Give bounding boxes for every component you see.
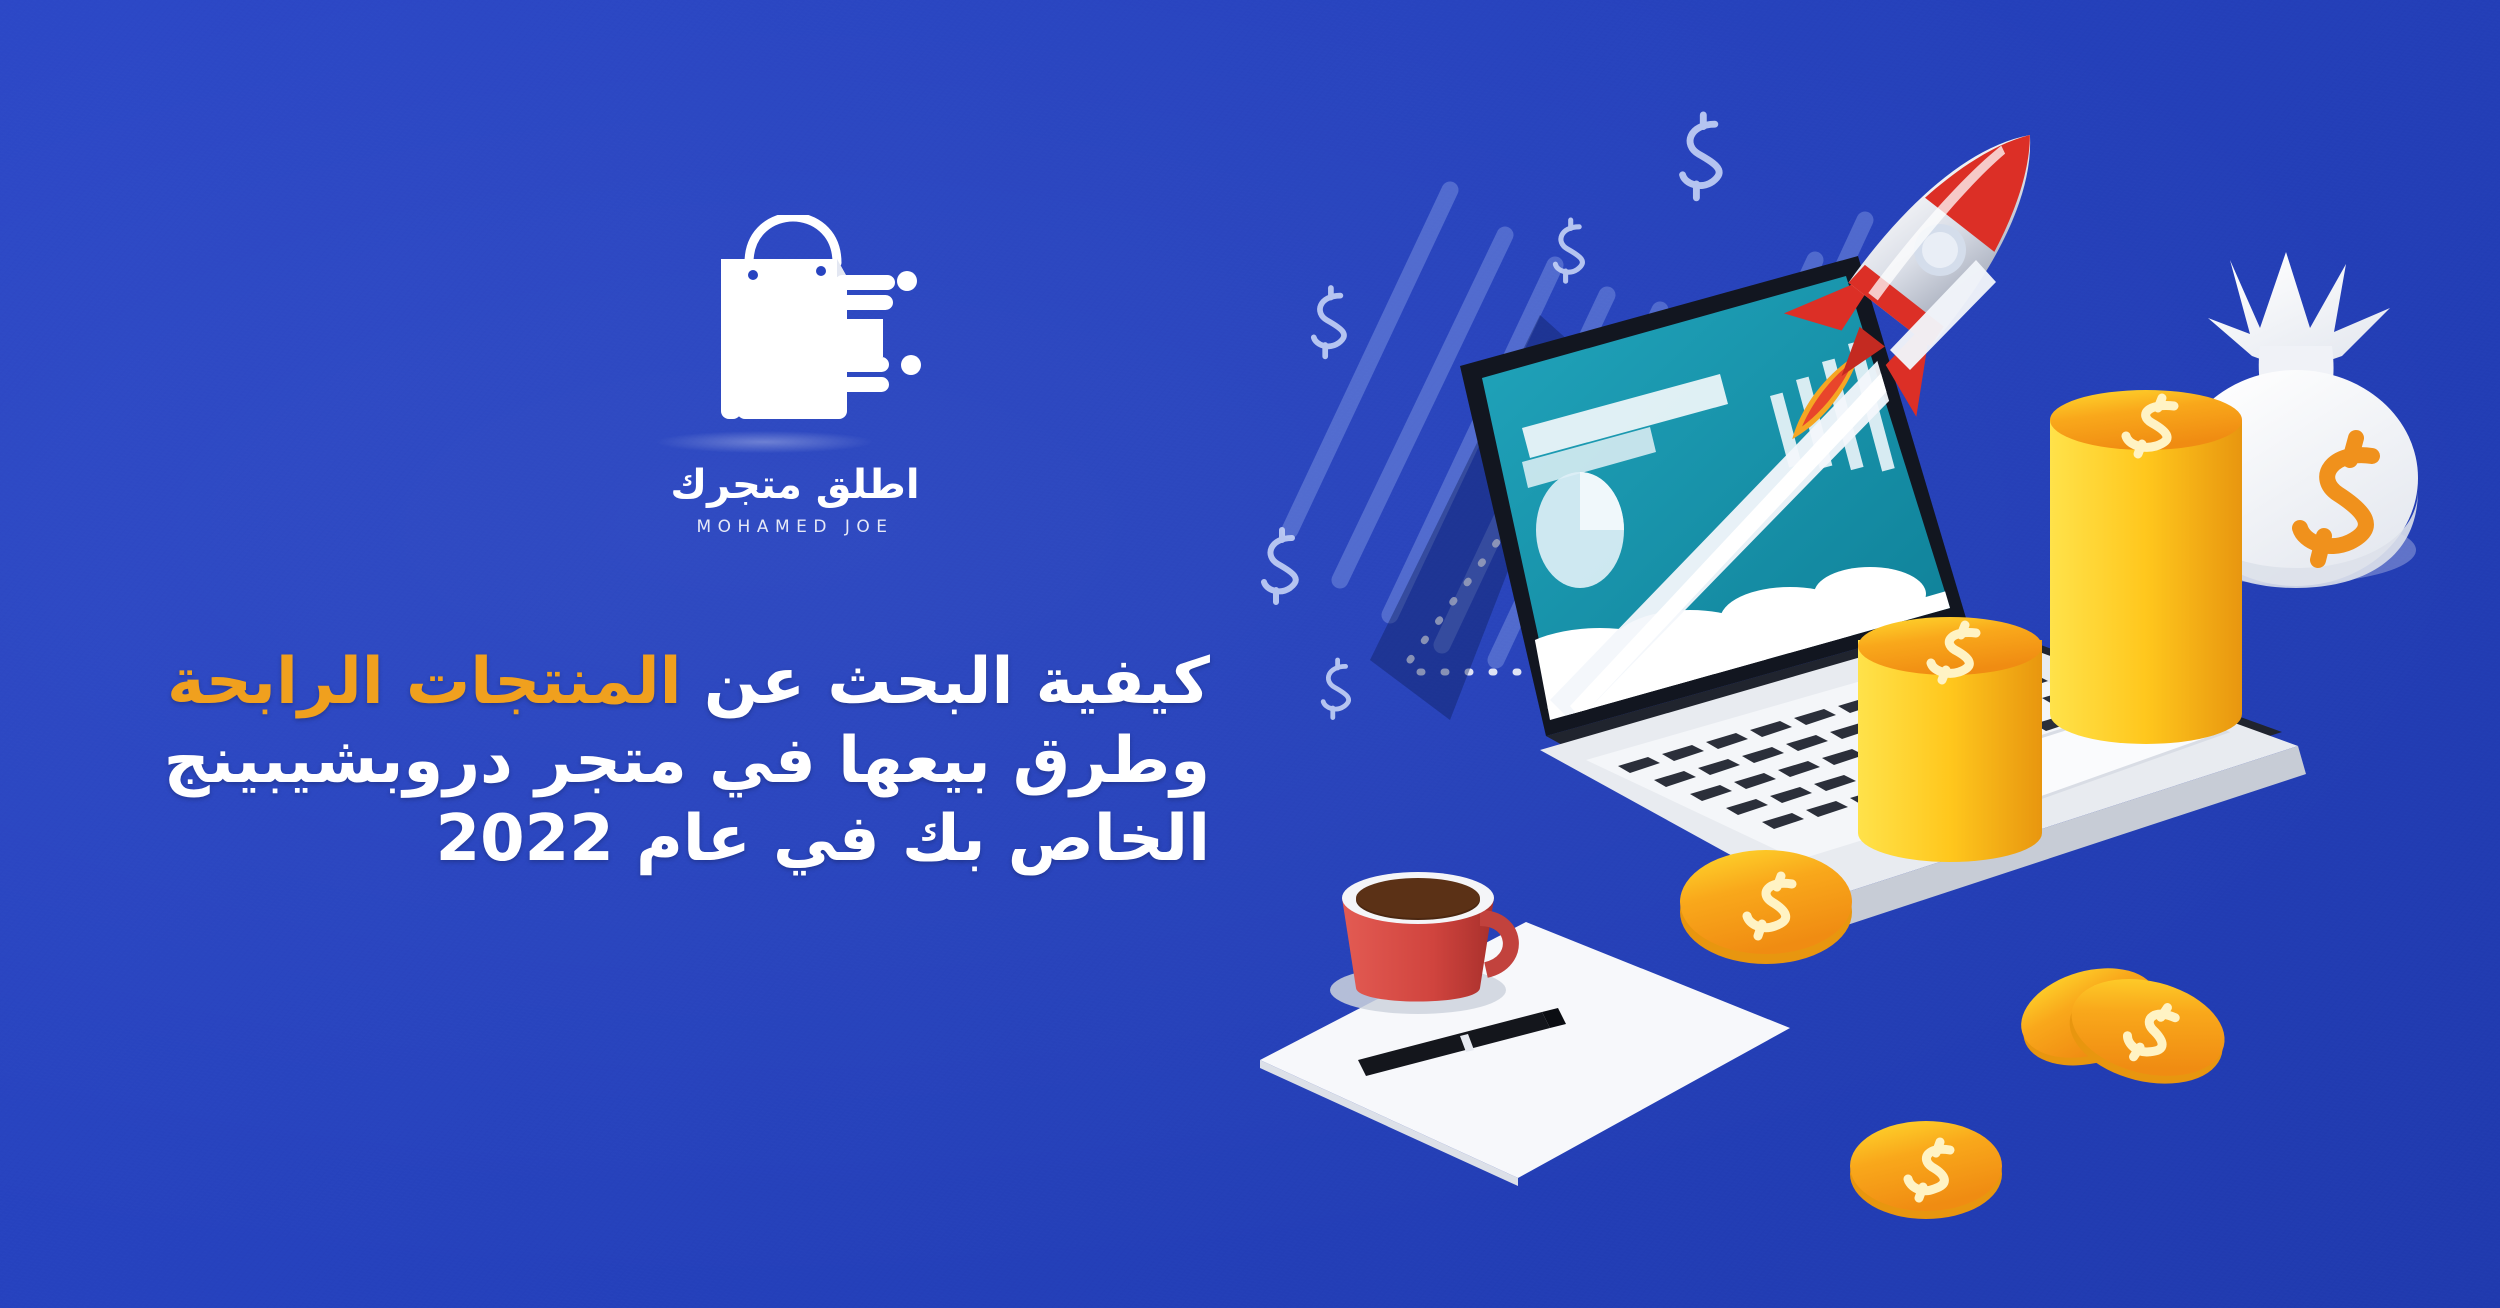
- banner-canvas: اطلق متجرك MOHAMED JOE كيفية البحث عن ال…: [0, 0, 2500, 1308]
- brand-name-arabic: اطلق متجرك: [645, 465, 945, 505]
- illustration: [1250, 60, 2500, 1240]
- headline-line-1-plain: كيفية البحث عن: [682, 645, 1210, 719]
- brand-name-latin: MOHAMED JOE: [645, 517, 945, 537]
- headline-accent-phrase: المنتجات الرابحة: [167, 645, 682, 719]
- headline-line-1: كيفية البحث عن المنتجات الرابحة: [150, 643, 1210, 722]
- headline-line-2: وطرق بيعها في متجر دروبشيبينج: [150, 722, 1210, 801]
- paper-sheet: [1260, 922, 1790, 1186]
- logo-shadow: [657, 431, 872, 453]
- coffee-cup: [1330, 872, 1511, 1014]
- coin-stack-short: [1858, 617, 2042, 862]
- logo: اطلق متجرك MOHAMED JOE: [645, 215, 945, 545]
- headline-line-3: الخاص بك في عام 2022: [150, 800, 1210, 879]
- page-title: كيفية البحث عن المنتجات الرابحة وطرق بيع…: [150, 643, 1210, 879]
- coin-stack-tall: [2050, 390, 2242, 744]
- shopping-bag-arrow-icon: [715, 215, 945, 430]
